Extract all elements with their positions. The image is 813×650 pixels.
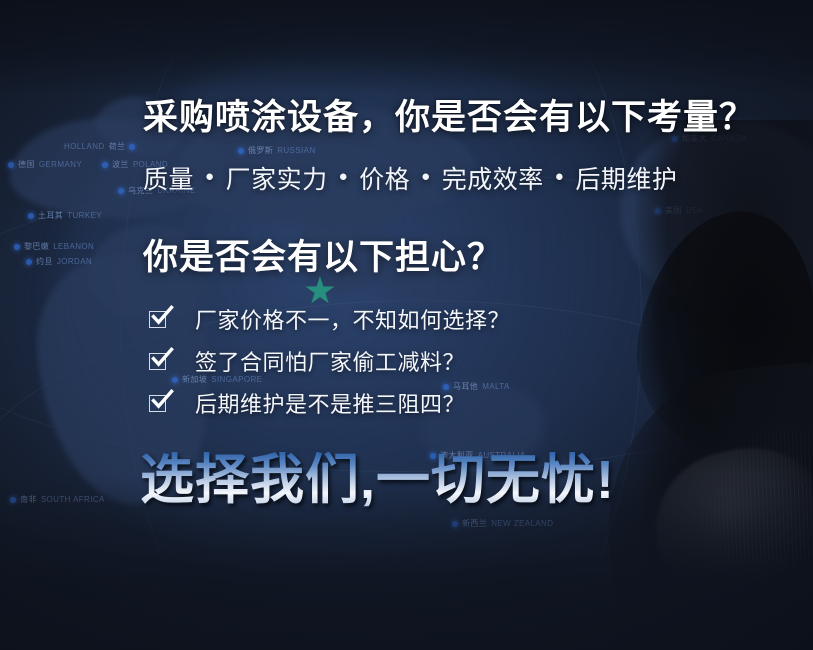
checklist-item-label: 厂家价格不一，不知如何选择？ (195, 303, 510, 335)
slogan-text: 选择我们,一切无忧! (140, 452, 615, 509)
feature-item: 价格 (359, 160, 410, 196)
concern-checklist: 厂家价格不一，不知如何选择？签了合同怕厂家偷工减料？后期维护是不是推三阻四？ (149, 303, 510, 418)
feature-separator-dot-icon: ● (339, 169, 349, 184)
primary-headline: 采购喷涂设备，你是否会有以下考量？ (143, 89, 755, 140)
secondary-headline: 你是否会有以下担心？ (143, 229, 503, 280)
promo-banner: 荷兰HOLLAND德国GERMANY波兰POLAND乌克兰UKRAINE土耳其T… (0, 0, 813, 650)
feature-item: 厂家实力 (226, 160, 328, 196)
feature-list: 质量●厂家实力●价格●完成效率●后期维护 (143, 160, 677, 196)
feature-item: 后期维护 (575, 160, 677, 196)
feature-item: 质量 (143, 160, 194, 196)
checklist-item-label: 签了合同怕厂家偷工减料？ (195, 345, 465, 377)
checklist-item: 厂家价格不一，不知如何选择？ (149, 303, 510, 334)
checklist-item: 后期维护是不是推三阻四？ (149, 387, 510, 418)
checklist-item: 签了合同怕厂家偷工减料？ (149, 345, 510, 376)
checkbox-checked-icon (149, 309, 169, 329)
checkbox-checked-icon (149, 351, 169, 371)
feature-separator-dot-icon: ● (421, 169, 431, 184)
banner-content: 采购喷涂设备，你是否会有以下考量？ 质量●厂家实力●价格●完成效率●后期维护 你… (0, 0, 813, 650)
checkbox-checked-icon (149, 393, 169, 413)
checklist-item-label: 后期维护是不是推三阻四？ (195, 387, 465, 419)
feature-separator-dot-icon: ● (205, 169, 215, 184)
feature-item: 完成效率 (442, 160, 544, 196)
feature-separator-dot-icon: ● (555, 169, 565, 184)
